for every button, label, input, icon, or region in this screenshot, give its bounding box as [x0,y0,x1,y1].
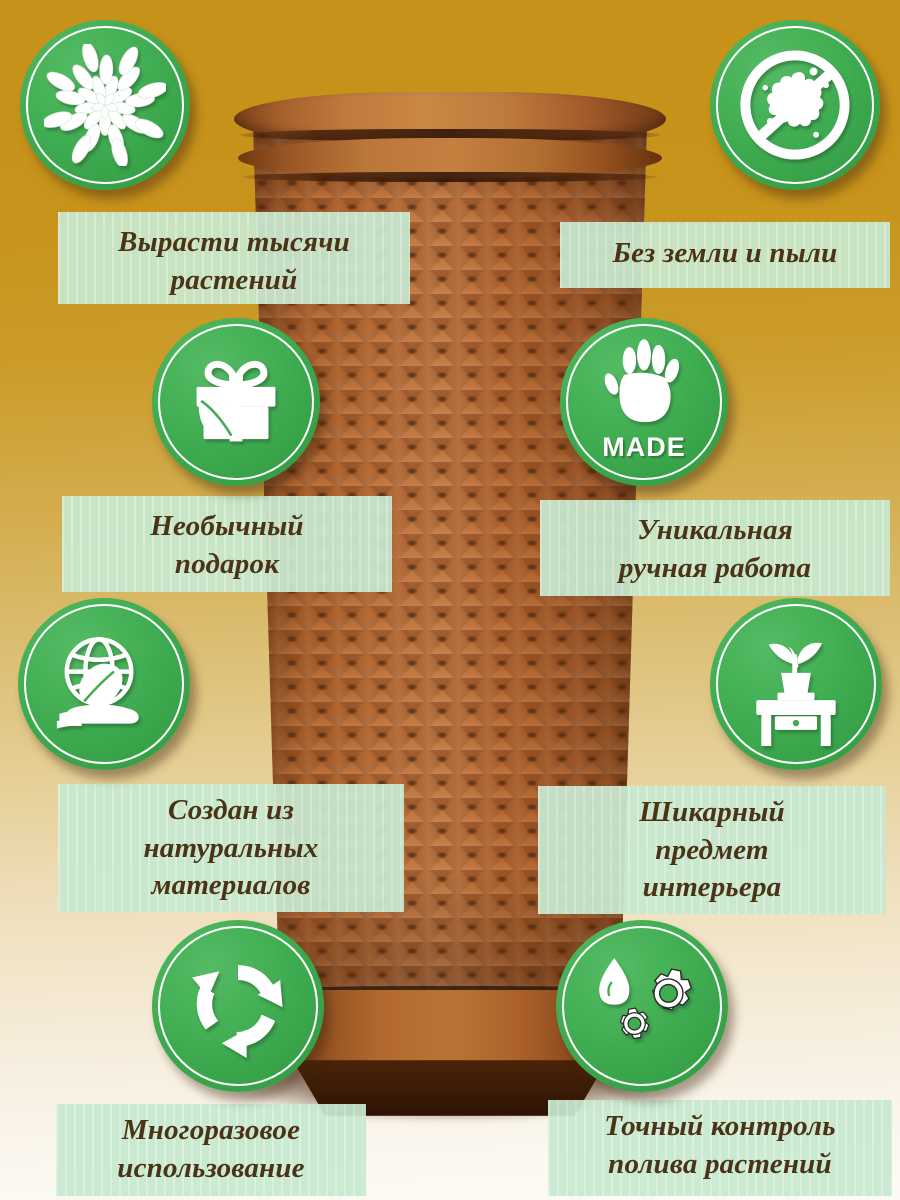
feature-badge-interior-piece[interactable] [710,598,882,770]
leaf-spiral-icon [44,44,166,166]
feature-badge-natural-materials[interactable] [18,598,190,770]
feature-badge-grow-thousands[interactable] [20,20,190,190]
caption-grow-thousands: Вырасти тысячи растений [58,224,410,299]
feature-badge-unique-handmade[interactable]: MADE [560,318,728,486]
caption-no-soil-no-dust: Без земли и пыли [560,235,890,273]
caption-reusable: Многоразовое использование [56,1112,366,1187]
product-feature-poster: Вырасти тысячи растений Без земли и пыли [0,0,900,1200]
caption-unusual-gift: Необычный подарок [62,508,392,583]
feature-badge-reusable[interactable] [152,920,324,1092]
caption-interior-piece: Шикарный предмет интерьера [538,794,886,907]
feature-badge-no-soil-no-dust[interactable] [710,20,880,190]
caption-natural-materials: Создан из натуральных материалов [58,792,404,905]
feature-badge-unusual-gift[interactable] [152,318,320,486]
made-label: MADE [560,432,728,463]
handprint-made-icon: MADE [588,337,700,467]
feature-badge-precise-watering[interactable] [556,920,728,1092]
gift-leaf-icon [178,344,294,460]
water-drop-gears-icon [579,943,705,1069]
recycle-arrows-icon [176,944,300,1068]
caption-unique-handmade: Уникальная ручная работа [540,512,890,587]
potted-plant-on-table-icon [734,622,858,746]
product-rim-middle [238,138,662,178]
product-rim-groove-lower [243,172,657,182]
product-rim-groove-upper [240,129,660,141]
product-rim-top [234,92,666,146]
caption-precise-watering: Точный контроль полива растений [548,1108,892,1183]
globe-leaf-hand-icon [42,622,166,746]
no-splash-icon [733,43,857,167]
